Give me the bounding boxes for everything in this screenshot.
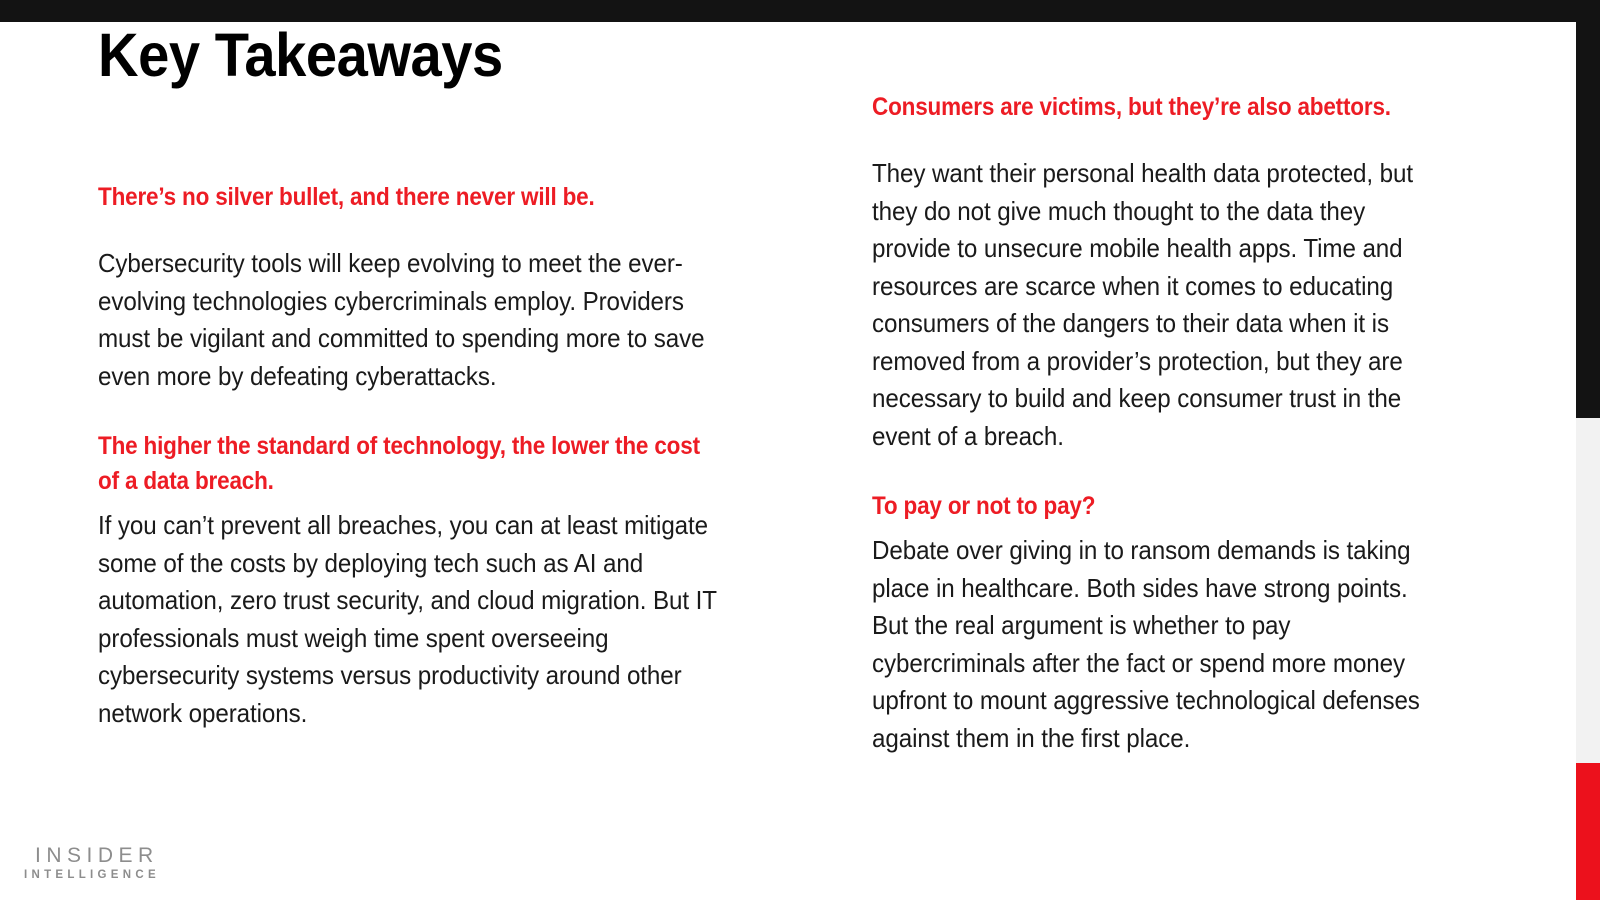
left-section-1-heading: There’s no silver bullet, and there neve… <box>98 180 719 215</box>
slide-root: Key Takeaways There’s no silver bullet, … <box>0 0 1600 900</box>
spacer-right-3 <box>872 524 1472 532</box>
spacer-left-1 <box>98 215 788 245</box>
left-section-1-body: Cybersecurity tools will keep evolving t… <box>98 245 740 395</box>
left-section-2-body: If you can’t prevent all breaches, you c… <box>98 507 740 732</box>
logo-secondary-text: INTELLIGENCE <box>24 868 160 882</box>
slide-canvas: Key Takeaways There’s no silver bullet, … <box>0 22 1576 900</box>
spacer-left-3 <box>98 499 788 507</box>
logo-primary-text: INSIDER <box>24 844 160 868</box>
right-edge-red-bar <box>1576 763 1600 900</box>
spacer-after-title <box>98 88 788 180</box>
right-edge-dark-bar <box>1576 0 1600 418</box>
spacer-left-2 <box>98 395 788 429</box>
right-column: Consumers are victims, but they’re also … <box>872 22 1472 757</box>
left-section-2-heading: The higher the standard of technology, t… <box>98 429 719 499</box>
top-black-band <box>0 0 1600 22</box>
page-title: Key Takeaways <box>98 22 733 88</box>
right-edge-gray-bar <box>1576 418 1600 763</box>
right-section-1-body: They want their personal health data pro… <box>872 155 1430 455</box>
insider-intelligence-logo: INSIDER INTELLIGENCE <box>24 844 160 882</box>
right-section-2-heading: To pay or not to pay? <box>872 489 1412 524</box>
spacer-right-top <box>872 22 1472 90</box>
right-section-1-heading: Consumers are victims, but they’re also … <box>872 90 1412 125</box>
spacer-right-2 <box>872 455 1472 489</box>
right-section-2-body: Debate over giving in to ransom demands … <box>872 532 1430 757</box>
spacer-right-1 <box>872 125 1472 155</box>
left-column: Key Takeaways There’s no silver bullet, … <box>98 22 788 732</box>
